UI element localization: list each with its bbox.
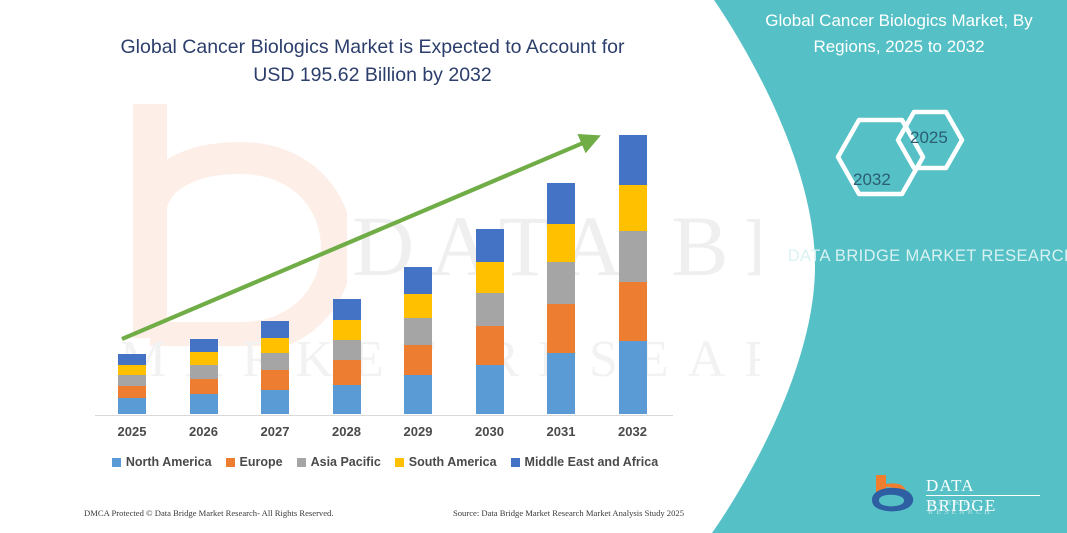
bar-2029[interactable] [404,267,432,414]
right-panel-heading: Global Cancer Biologics Market, By Regio… [744,8,1054,59]
bar-segment-north-america [619,341,647,414]
x-axis-label-2029: 2029 [388,424,448,439]
bar-segment-south-america [118,365,146,375]
chart-axis-line [95,415,673,416]
footer-copyright: DMCA Protected © Data Bridge Market Rese… [84,508,334,518]
bar-segment-middle-east-and-africa [619,135,647,185]
legend-swatch-icon [226,458,235,467]
hexagon-2025-shape [898,112,962,168]
bar-segment-south-america [261,338,289,354]
bar-2032[interactable] [619,135,647,414]
legend-swatch-icon [297,458,306,467]
legend-item-asia-pacific[interactable]: Asia Pacific [297,455,381,469]
footer-bar: DMCA Protected © Data Bridge Market Rese… [84,508,684,518]
year-hexagons: 2032 2025 [820,92,1000,222]
bar-segment-south-america [547,224,575,262]
chart-x-axis-labels: 20252026202720282029203020312032 [95,424,673,444]
legend-label: Middle East and Africa [525,455,659,469]
bar-segment-middle-east-and-africa [547,183,575,224]
bar-2025[interactable] [118,354,146,414]
x-axis-label-2028: 2028 [317,424,377,439]
bar-2027[interactable] [261,321,289,414]
bar-segment-middle-east-and-africa [476,229,504,262]
legend-label: Europe [240,455,283,469]
hexagon-2032-shape [838,120,923,194]
bar-2028[interactable] [333,299,361,414]
bar-segment-europe [547,304,575,353]
logo-text-main: DATA BRIDGE [926,476,1046,516]
x-axis-label-2025: 2025 [102,424,162,439]
bar-segment-europe [333,360,361,384]
bar-segment-europe [118,386,146,399]
bar-segment-south-america [333,320,361,340]
chart-legend: North AmericaEuropeAsia PacificSouth Ame… [95,455,675,469]
bar-2026[interactable] [190,339,218,414]
footer-source: Source: Data Bridge Market Research Mark… [453,508,684,518]
bar-segment-middle-east-and-africa [404,267,432,293]
infographic-canvas: DATA BRIDGE MARKET RESEARCH Global Cance… [0,0,1067,533]
logo-divider [926,495,1040,496]
bar-segment-asia-pacific [404,318,432,344]
legend-item-europe[interactable]: Europe [226,455,283,469]
bar-segment-south-america [476,262,504,292]
bar-2030[interactable] [476,229,504,414]
bar-segment-asia-pacific [118,375,146,386]
bar-segment-south-america [190,352,218,365]
bar-segment-asia-pacific [190,365,218,379]
x-axis-label-2030: 2030 [460,424,520,439]
bar-segment-north-america [118,398,146,414]
legend-label: North America [126,455,212,469]
stacked-bar-chart [95,120,673,416]
bar-segment-asia-pacific [333,340,361,361]
data-bridge-logo-mark [866,472,922,516]
bar-segment-north-america [261,390,289,414]
bar-segment-europe [476,326,504,365]
bar-segment-asia-pacific [619,231,647,282]
bar-segment-south-america [404,294,432,318]
legend-swatch-icon [395,458,404,467]
legend-label: South America [409,455,497,469]
bar-segment-middle-east-and-africa [333,299,361,321]
x-axis-label-2027: 2027 [245,424,305,439]
bar-segment-europe [619,282,647,341]
bar-segment-north-america [476,365,504,414]
bar-segment-europe [404,345,432,375]
legend-item-north-america[interactable]: North America [112,455,212,469]
legend-item-middle-east-and-africa[interactable]: Middle East and Africa [511,455,659,469]
bar-segment-asia-pacific [261,353,289,370]
page-title: Global Cancer Biologics Market is Expect… [100,34,645,89]
hexagon-2032-label: 2032 [853,170,891,190]
bar-segment-north-america [547,353,575,414]
bar-segment-north-america [190,394,218,414]
bar-segment-europe [261,370,289,390]
chart-plot-area [95,120,673,415]
bar-segment-asia-pacific [547,262,575,304]
left-chart-panel: DATA BRIDGE MARKET RESEARCH Global Cance… [0,0,760,533]
hexagon-2025-label: 2025 [910,128,948,148]
x-axis-label-2032: 2032 [603,424,663,439]
x-axis-label-2026: 2026 [174,424,234,439]
x-axis-label-2031: 2031 [531,424,591,439]
right-panel-brand-name: DATA BRIDGE MARKET RESEARCH [784,244,1067,270]
bar-segment-south-america [619,185,647,231]
legend-swatch-icon [511,458,520,467]
bar-segment-north-america [333,385,361,414]
legend-swatch-icon [112,458,121,467]
bar-2031[interactable] [547,183,575,414]
bar-segment-asia-pacific [476,293,504,326]
bar-segment-europe [190,379,218,395]
legend-label: Asia Pacific [311,455,381,469]
data-bridge-logo[interactable]: DATA BRIDGE MARKET RESEARCH [866,472,1046,520]
bar-segment-middle-east-and-africa [261,321,289,338]
bar-segment-middle-east-and-africa [118,354,146,365]
legend-item-south-america[interactable]: South America [395,455,497,469]
logo-text-sub: MARKET RESEARCH [928,498,1046,516]
bar-segment-north-america [404,375,432,414]
bar-segment-middle-east-and-africa [190,339,218,353]
